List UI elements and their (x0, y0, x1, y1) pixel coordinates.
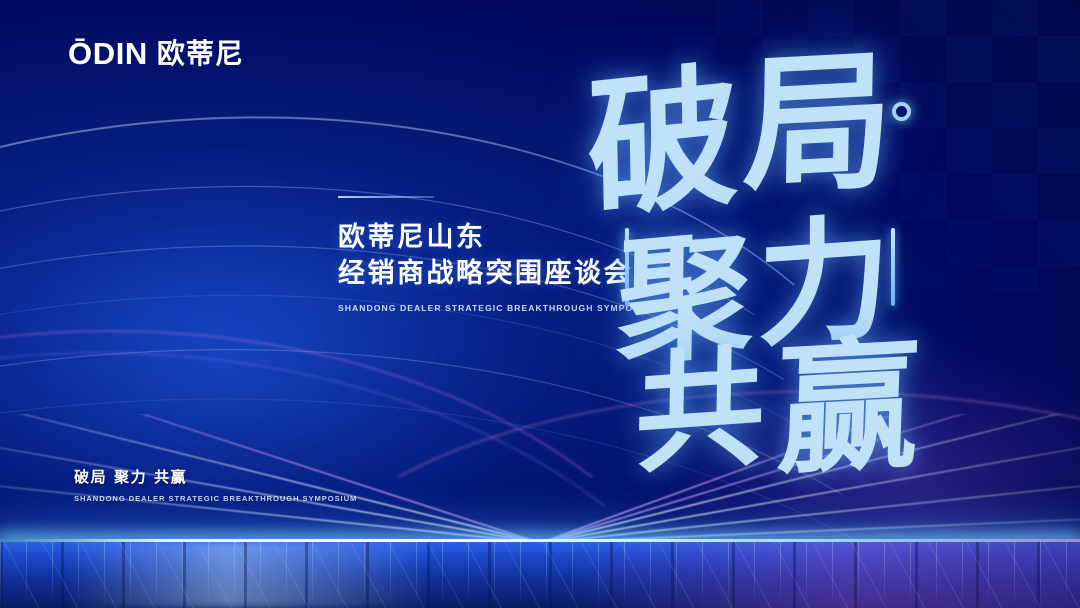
slogan-cn: 破局 聚力 共赢 (74, 466, 357, 487)
odin-wordmark-icon: ŌDIN (68, 38, 148, 69)
hero-char-ju: 局 (742, 46, 894, 204)
title-divider (338, 196, 434, 198)
floor-plane (0, 542, 1080, 608)
circle-ring-icon (892, 102, 911, 121)
hero-char-po: 破 (586, 60, 740, 228)
hero-calligraphy: 破 局 聚 力 共 赢 (565, 46, 1035, 476)
floor-diagonal-lines (0, 542, 1080, 608)
vertical-bar-icon (891, 228, 895, 306)
brand-name-cn: 欧蒂尼 (157, 40, 244, 68)
slogan-en: SHANDONG DEALER STRATEGIC BREAKTHROUGH S… (74, 494, 357, 503)
brand-logo: ŌDIN 欧蒂尼 (68, 38, 244, 69)
hero-char-gong: 共 (634, 341, 766, 481)
hero-char-ying: 赢 (775, 334, 922, 484)
slogan-block: 破局 聚力 共赢 SHANDONG DEALER STRATEGIC BREAK… (74, 466, 357, 503)
event-banner: ŌDIN 欧蒂尼 欧蒂尼山东 经销商战略突围座谈会 SHANDONG DEALE… (0, 0, 1080, 608)
